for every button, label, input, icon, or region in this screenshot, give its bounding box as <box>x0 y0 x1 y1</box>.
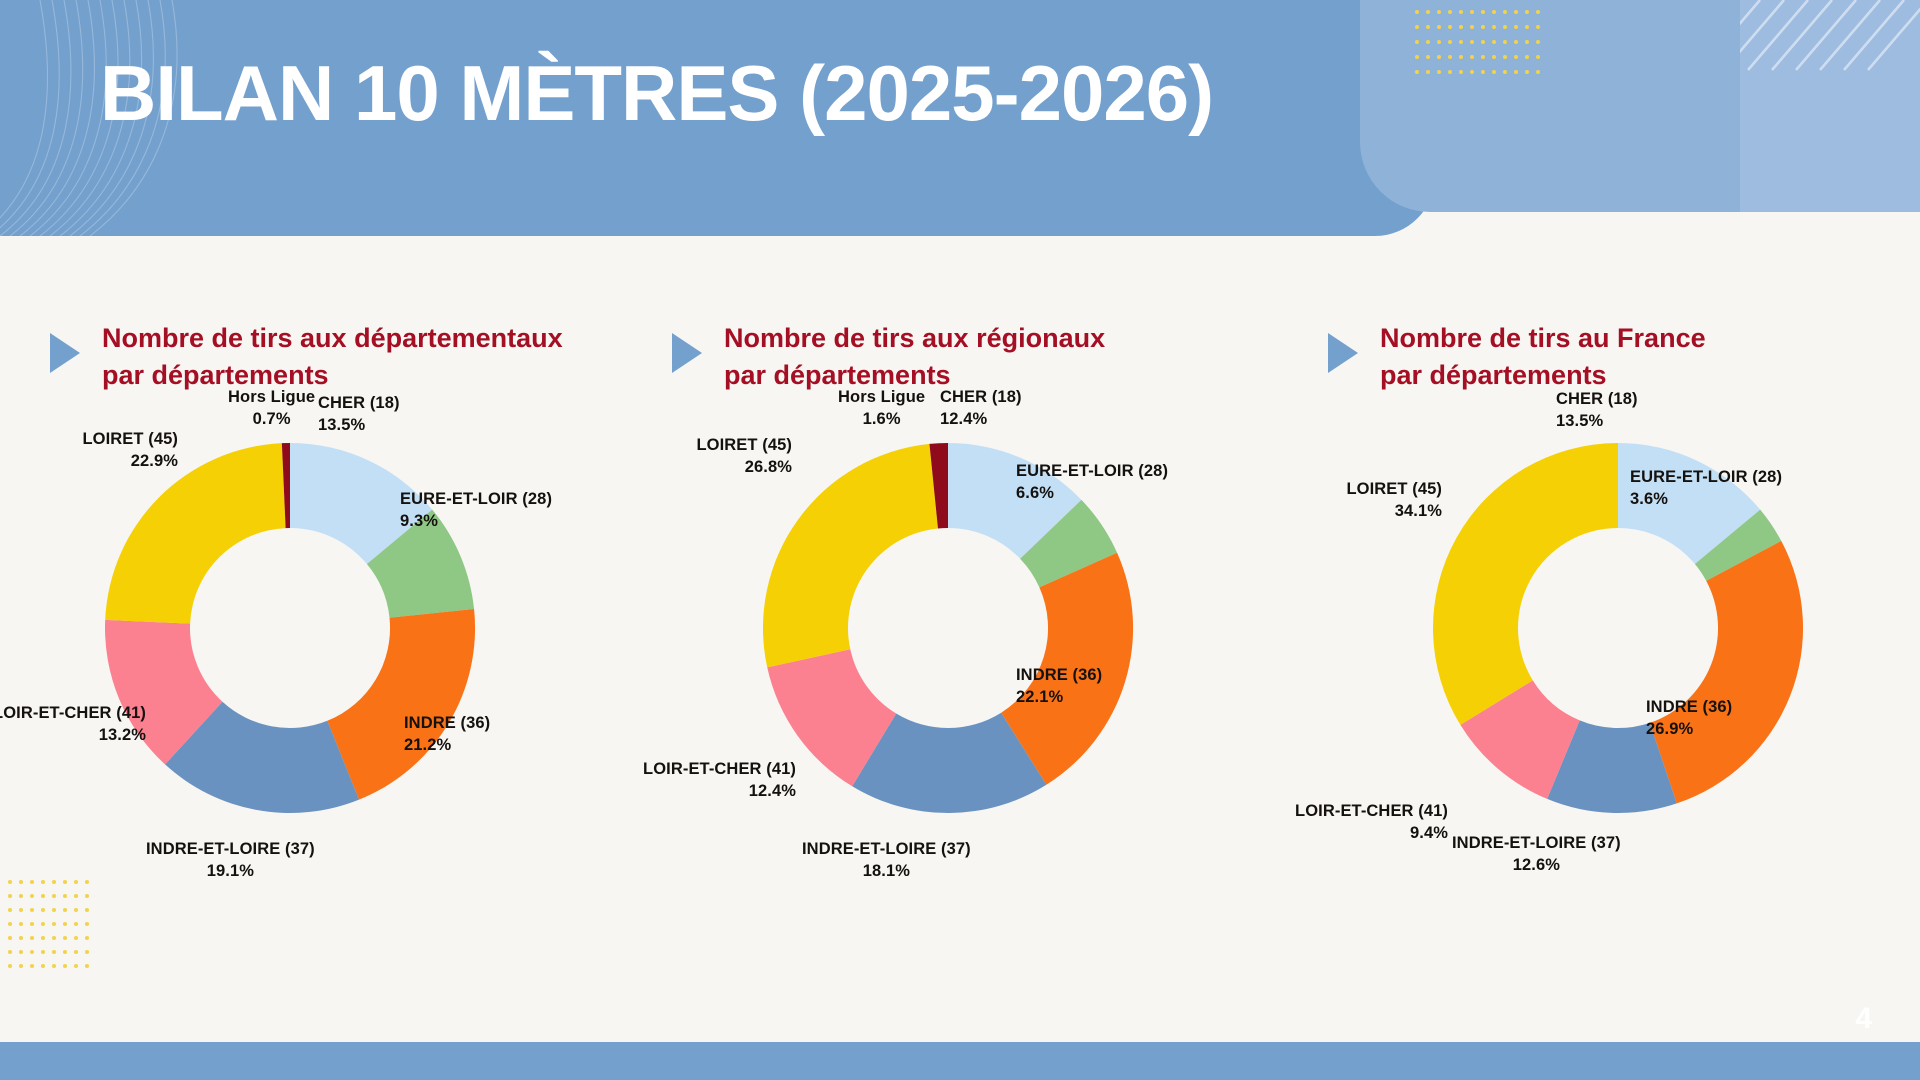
pie-label-indre-2: INDRE (36) 22.1% <box>1016 664 1102 708</box>
pie-label-cher-2: CHER (18) 12.4% <box>940 386 1022 430</box>
pie-label-loiret-3: LOIRET (45) 34.1% <box>1214 478 1442 522</box>
pie-label-loir-et-cher-2: LOIR-ET-CHER (41) 12.4% <box>506 758 796 802</box>
header-dot-grid-decoration <box>1415 10 1545 85</box>
play-triangle-icon <box>50 333 80 373</box>
pie-label-hors-ligue-1: Hors Ligue 0.7% <box>228 386 315 430</box>
play-triangle-icon <box>1328 333 1358 373</box>
pie-label-loir-et-cher-1: LOIR-ET-CHER (41) 13.2% <box>0 702 146 746</box>
chart-column-france: Nombre de tirs au France par département… <box>1280 236 1920 1036</box>
pie-label-indre-et-loire-2: INDRE-ET-LOIRE (37) 18.1% <box>802 838 971 882</box>
pie-label-indre-3: INDRE (36) 26.9% <box>1646 696 1732 740</box>
chart-title-1: Nombre de tirs aux départementaux par dé… <box>102 320 563 395</box>
chart-column-regionaux: Nombre de tirs aux régionaux par départe… <box>640 236 1280 1036</box>
footer-band <box>0 1042 1775 1080</box>
header-diagonal-lines-decoration <box>1740 0 1920 190</box>
chart-header-3: Nombre de tirs au France par département… <box>1328 320 1706 395</box>
pie-label-indre-et-loire-1: INDRE-ET-LOIRE (37) 19.1% <box>146 838 315 882</box>
slice-loiret <box>1433 443 1618 725</box>
chart-title-2-line1: Nombre de tirs aux régionaux <box>724 320 1105 357</box>
pie-label-cher-1: CHER (18) 13.5% <box>318 392 400 436</box>
chart-title-1-line1: Nombre de tirs aux départementaux <box>102 320 563 357</box>
chart-header-1: Nombre de tirs aux départementaux par dé… <box>50 320 563 395</box>
play-triangle-icon <box>672 333 702 373</box>
slice-indre <box>327 609 475 800</box>
donut-wrap-3: CHER (18) 13.5% EURE-ET-LOIR (28) 3.6% I… <box>1280 414 1920 974</box>
chart-title-1-line2: par départements <box>102 357 563 394</box>
page-number: 4 <box>1855 1002 1872 1036</box>
donut-wrap-2: Hors Ligue 1.6% CHER (18) 12.4% EURE-ET-… <box>640 414 1280 974</box>
pie-label-hors-ligue-2: Hors Ligue 1.6% <box>838 386 925 430</box>
charts-container: Nombre de tirs aux départementaux par dé… <box>0 236 1920 1036</box>
pie-label-eure-et-loir-2: EURE-ET-LOIR (28) 6.6% <box>1016 460 1168 504</box>
pie-label-eure-et-loir-3: EURE-ET-LOIR (28) 3.6% <box>1630 466 1782 510</box>
pie-label-eure-et-loir-1: EURE-ET-LOIR (28) 9.3% <box>400 488 552 532</box>
chart-title-3-line2: par départements <box>1380 357 1706 394</box>
footer-dot-grid-decoration <box>8 880 94 972</box>
chart-title-3: Nombre de tirs au France par département… <box>1380 320 1706 395</box>
slice-indre <box>1650 541 1803 804</box>
page-title: BILAN 10 MÈTRES (2025-2026) <box>100 52 1213 135</box>
chart-header-2: Nombre de tirs aux régionaux par départe… <box>672 320 1105 395</box>
slide-root: BILAN 10 MÈTRES (2025-2026) Nombre de ti… <box>0 0 1920 1080</box>
chart-title-2: Nombre de tirs aux régionaux par départe… <box>724 320 1105 395</box>
pie-label-cher-3: CHER (18) 13.5% <box>1556 388 1638 432</box>
pie-label-indre-1: INDRE (36) 21.2% <box>404 712 490 756</box>
chart-title-3-line1: Nombre de tirs au France <box>1380 320 1706 357</box>
footer-band-right <box>1740 1042 1920 1080</box>
chart-column-departementaux: Nombre de tirs aux départementaux par dé… <box>0 236 640 1036</box>
donut-wrap-1: Hors Ligue 0.7% CHER (18) 13.5% EURE-ET-… <box>0 414 640 974</box>
pie-label-loir-et-cher-3: LOIR-ET-CHER (41) 9.4% <box>1178 800 1448 844</box>
pie-label-indre-et-loire-3: INDRE-ET-LOIRE (37) 12.6% <box>1452 832 1621 876</box>
pie-label-loiret-2: LOIRET (45) 26.8% <box>562 434 792 478</box>
pie-label-loiret-1: LOIRET (45) 22.9% <box>0 428 178 472</box>
